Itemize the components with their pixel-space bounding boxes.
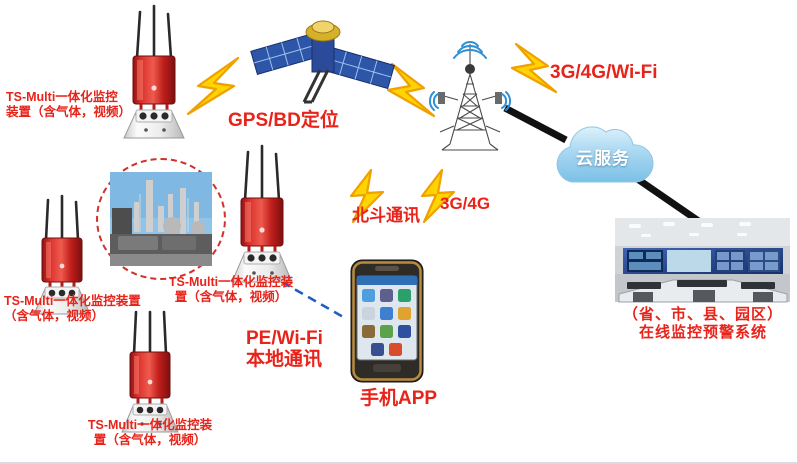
- label-beidou: 北斗通讯: [352, 206, 420, 226]
- cloud-label: 云服务: [548, 144, 658, 169]
- diagram-canvas: 云服务 TS-Multi一体化监控 装置（含气体，视频）: [0, 0, 797, 464]
- monitor-device-mid-label: TS-Multi一体化监控装 置（含气体，视频）: [156, 275, 306, 305]
- label-pe-wifi: PE/Wi-Fi 本地通讯: [246, 328, 323, 371]
- cell-tower-icon: [428, 22, 512, 154]
- phone-app-label: 手机APP: [360, 388, 437, 410]
- monitor-device-bottom: [106, 312, 190, 434]
- cloud-node: 云服务: [548, 122, 658, 192]
- label-3g4g-wifi: 3G/4G/Wi-Fi: [550, 62, 658, 84]
- refinery-photo: [110, 172, 212, 266]
- control-room-image: [615, 218, 790, 302]
- control-room-label: （省、市、县、园区） 在线监控预警系统: [608, 306, 797, 341]
- satellite-icon: [248, 10, 398, 106]
- refinery-photo-circle: [96, 158, 226, 280]
- label-gps-bd: GPS/BD定位: [228, 110, 339, 132]
- control-room-photo: [615, 218, 790, 302]
- monitor-device-bottom-label: TS-Multi一体化监控装 置（含气体，视频）: [70, 418, 230, 448]
- handheld-app-device: [351, 260, 423, 382]
- monitor-device-top: [110, 4, 194, 140]
- label-3g4g: 3G/4G: [440, 194, 490, 214]
- monitor-device-top-label: TS-Multi一体化监控 装置（含气体，视频）: [6, 90, 131, 120]
- monitor-device-mid: [218, 144, 302, 286]
- handheld-device-icon: [351, 260, 423, 382]
